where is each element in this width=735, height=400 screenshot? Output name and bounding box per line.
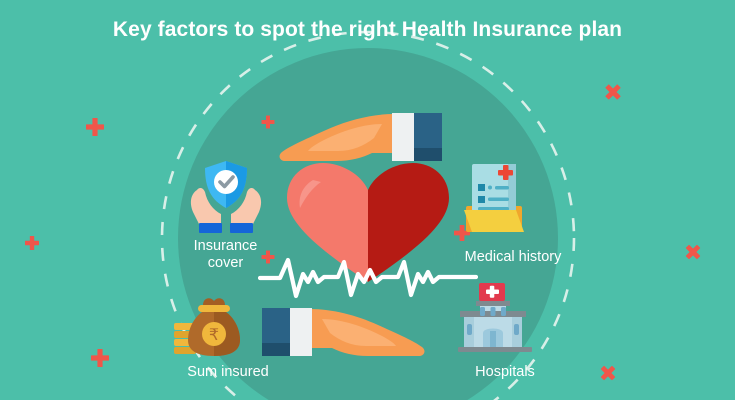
hand-cuff [392, 113, 416, 161]
hand-sleeve-shade [414, 148, 442, 161]
hand-cuff [288, 308, 312, 356]
hand-sleeve-shade [262, 343, 290, 356]
shield-check-circle [214, 170, 238, 194]
infographic-canvas: Key factors to spot the right Health Ins… [0, 0, 735, 400]
rupee-symbol: ₹ [209, 327, 219, 344]
node-label-hospitals: Hospitals [430, 364, 580, 381]
shield-in-hands-icon[interactable] [183, 158, 269, 236]
cuff-right [230, 223, 253, 233]
bag-top [203, 298, 225, 305]
folder-medical-document-icon[interactable] [450, 160, 536, 236]
door [490, 331, 496, 347]
page-title: Key factors to spot the right Health Ins… [0, 18, 735, 42]
node-label-medical-history: Medical history [428, 249, 598, 266]
node-label-insurance-cover: Insurance cover [163, 238, 288, 272]
folder-front [464, 210, 524, 232]
money-bag-rupee-icon[interactable]: ₹ [170, 296, 256, 358]
open-hand-right-icon [262, 303, 428, 363]
bag-tie [198, 305, 230, 312]
building-base [458, 347, 532, 352]
open-hand-left-icon [276, 108, 442, 168]
cuff-left [199, 223, 222, 233]
node-label-sum-insured: Sum insured [153, 364, 303, 381]
sign-base [476, 301, 510, 306]
